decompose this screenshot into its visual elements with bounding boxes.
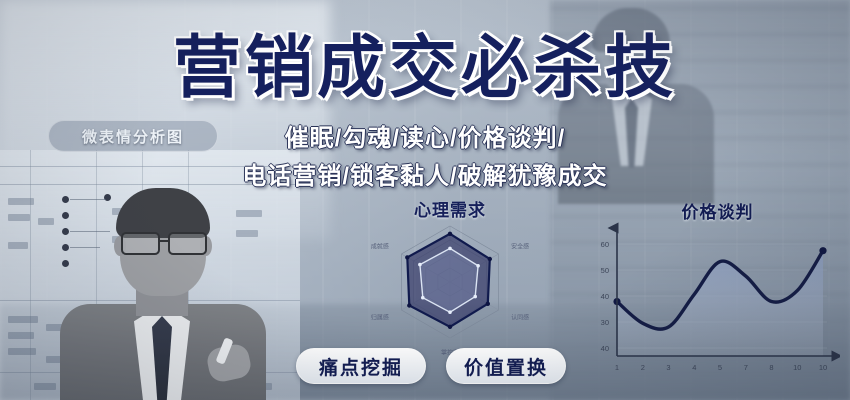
svg-text:50: 50 xyxy=(601,266,609,275)
svg-text:8: 8 xyxy=(769,363,773,372)
pill-value-exchange[interactable]: 价值置换 xyxy=(446,348,566,384)
line-chart-area-fill xyxy=(617,251,823,356)
line-chart-x-tick-labels: 12345781010 xyxy=(615,363,827,372)
svg-text:认同感: 认同感 xyxy=(511,313,529,321)
subtitle-line-1: 催眠/勾魂/读心/价格谈判/ xyxy=(0,118,850,153)
marketing-banner: 微表情分析图 营销成交必杀技 催眠/勾魂/读心/价格谈判/ 电话营销/锁客黏人/… xyxy=(0,0,850,400)
line-chart: 价格谈判 12345781010 60504 xyxy=(595,198,840,383)
eyeglasses-icon xyxy=(120,232,208,252)
foreground-speaker-photo xyxy=(58,188,268,400)
subtitle-line-2: 电话营销/锁客黏人/破解犹豫成交 xyxy=(0,156,850,191)
svg-text:5: 5 xyxy=(718,363,722,372)
svg-text:40: 40 xyxy=(601,292,609,301)
svg-text:2: 2 xyxy=(641,363,645,372)
line-chart-end-point xyxy=(819,247,826,254)
svg-text:安全感: 安全感 xyxy=(511,243,529,251)
page-title: 营销成交必杀技 xyxy=(0,34,850,102)
svg-text:10: 10 xyxy=(793,363,801,372)
svg-text:7: 7 xyxy=(744,363,748,372)
line-chart-y-tick-labels: 6050403040 xyxy=(601,240,609,353)
svg-text:30: 30 xyxy=(601,318,609,327)
pill-pain-point-mining[interactable]: 痛点挖掘 xyxy=(296,348,426,384)
radar-chart-svg: 需求安全感认同感掌控欲归属感成就感 xyxy=(330,216,570,356)
line-chart-svg: 12345781010 6050403040 xyxy=(595,216,840,381)
svg-text:3: 3 xyxy=(666,363,670,372)
svg-text:10: 10 xyxy=(819,363,827,372)
svg-text:归属感: 归属感 xyxy=(371,313,389,321)
svg-text:40: 40 xyxy=(601,344,609,353)
svg-text:60: 60 xyxy=(601,240,609,249)
svg-text:成就感: 成就感 xyxy=(371,243,389,251)
svg-text:4: 4 xyxy=(692,363,696,372)
radar-chart: 心理需求 需求安全感认同感掌控欲归属感成就感 xyxy=(330,196,570,356)
svg-text:1: 1 xyxy=(615,363,619,372)
